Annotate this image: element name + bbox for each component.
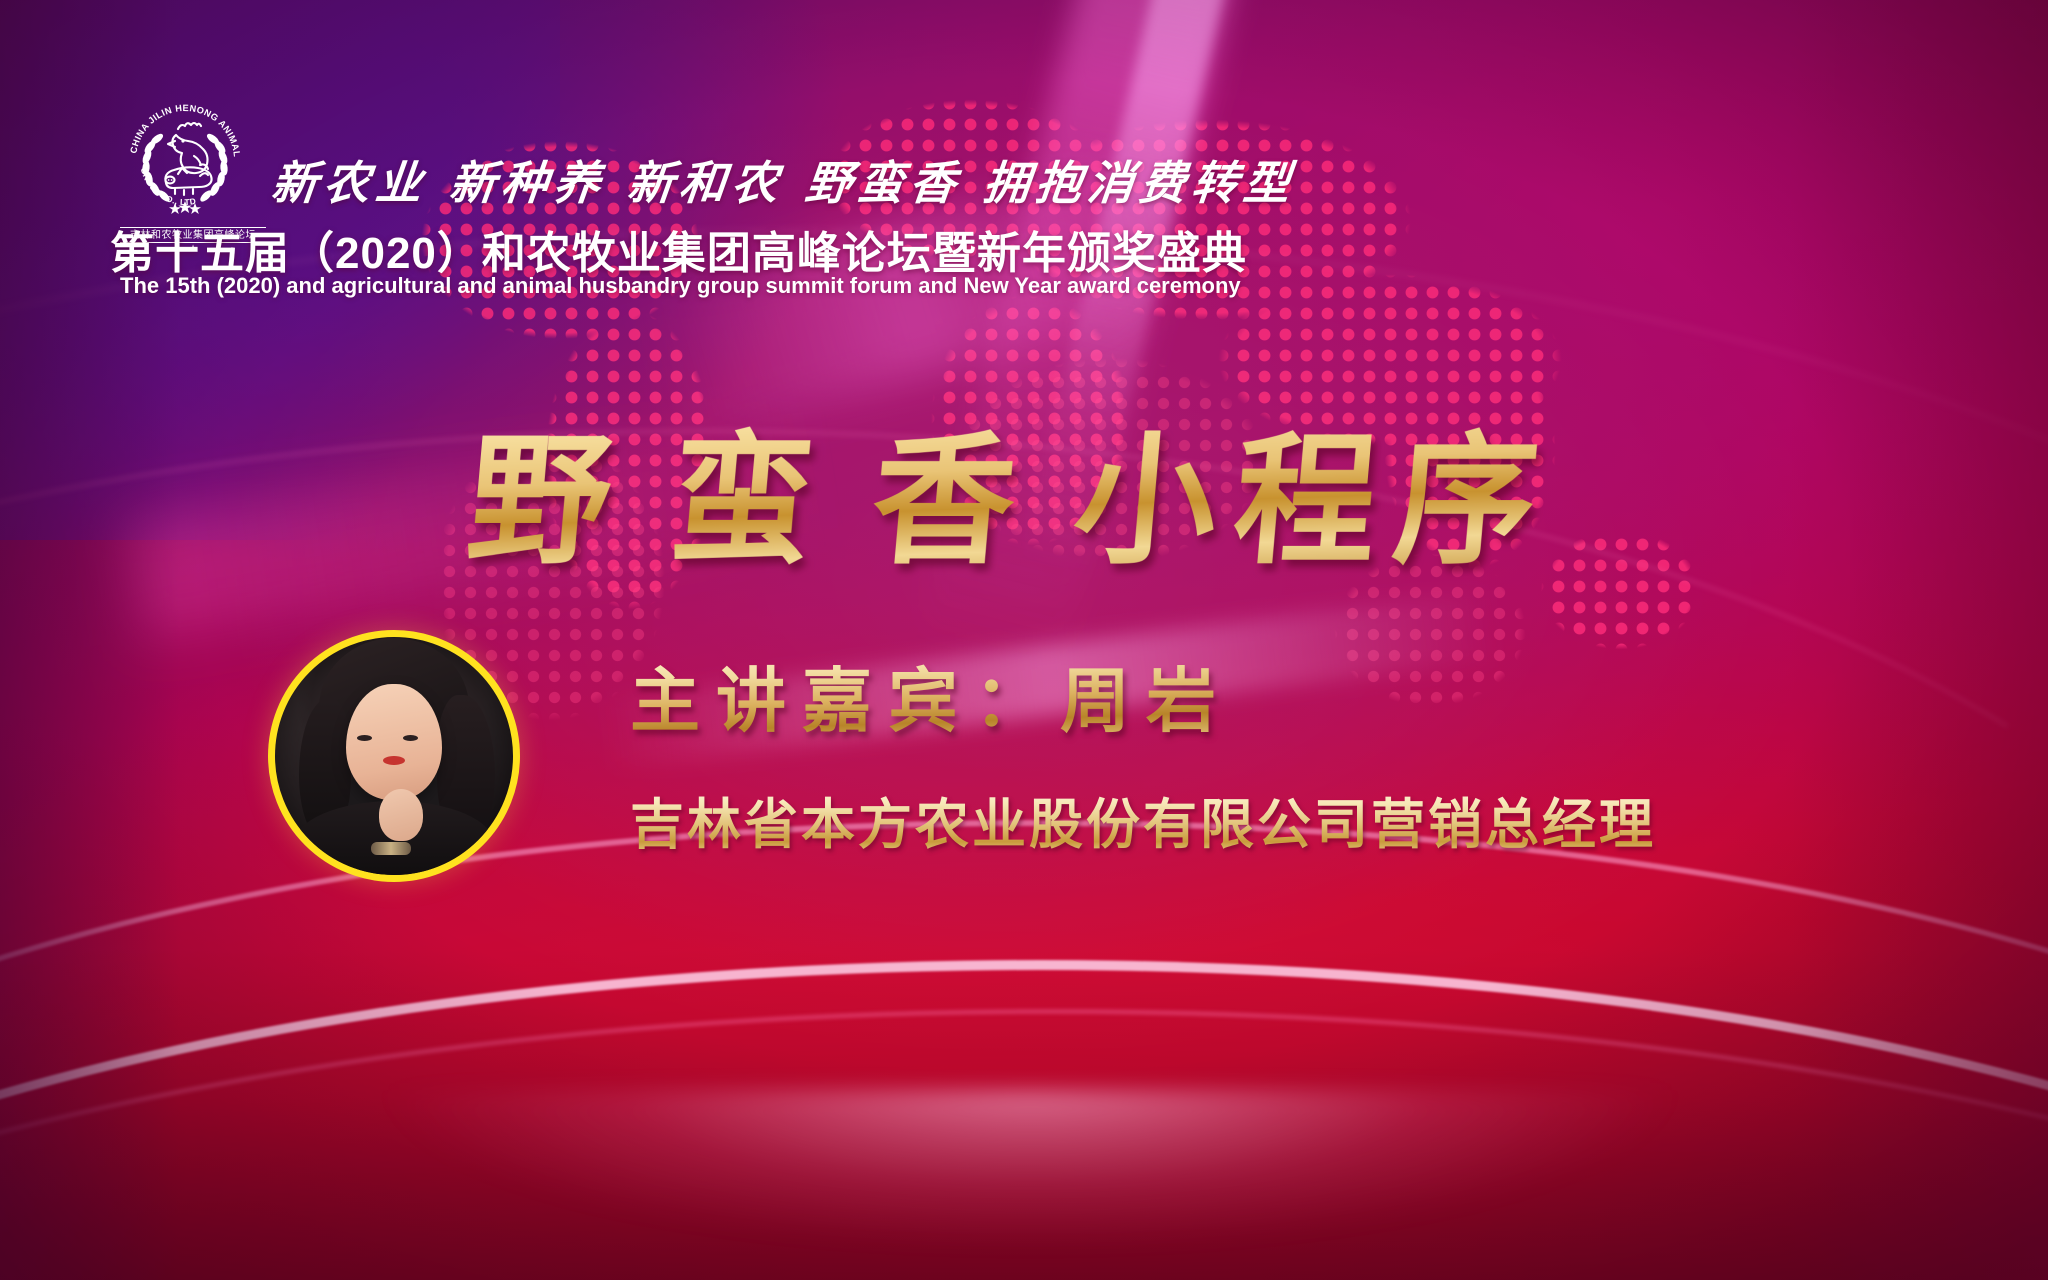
event-slogan: 新农业 新种养 新和农 野蛮香 拥抱消费转型 bbox=[269, 147, 1300, 213]
portrait-hand bbox=[379, 789, 423, 841]
page-title: 野蛮香小程序 bbox=[461, 385, 1565, 591]
speaker-label: 主讲嘉宾： bbox=[630, 659, 1060, 742]
portrait-watch bbox=[371, 842, 411, 855]
portrait-eye-right bbox=[403, 735, 418, 741]
event-poster: CHINA JILIN HENONG ANIMAL HUSBANDRY GROU… bbox=[0, 0, 2048, 1280]
speaker-heading: 主讲嘉宾：周岩 bbox=[630, 645, 1232, 746]
portrait-lips bbox=[383, 756, 405, 765]
emblem-icon: CHINA JILIN HENONG ANIMAL HUSBANDRY GROU… bbox=[120, 95, 250, 225]
speaker-job-title: 吉林省本方农业股份有限公司营销总经理 bbox=[630, 780, 1656, 859]
event-subheadline-english: The 15th (2020) and agricultural and ani… bbox=[120, 273, 1241, 299]
event-headline: 第十五届（2020）和农牧业集团高峰论坛暨新年颁奖盛典 bbox=[110, 217, 1247, 281]
portrait-face bbox=[346, 684, 442, 800]
speaker-name: 周岩 bbox=[1060, 659, 1232, 742]
page-title-right: 小程序 bbox=[1068, 418, 1563, 584]
page-title-left: 野蛮香 bbox=[462, 418, 1083, 584]
avatar bbox=[268, 630, 520, 882]
rooster-icon bbox=[168, 123, 208, 173]
portrait-eye-left bbox=[357, 735, 372, 741]
